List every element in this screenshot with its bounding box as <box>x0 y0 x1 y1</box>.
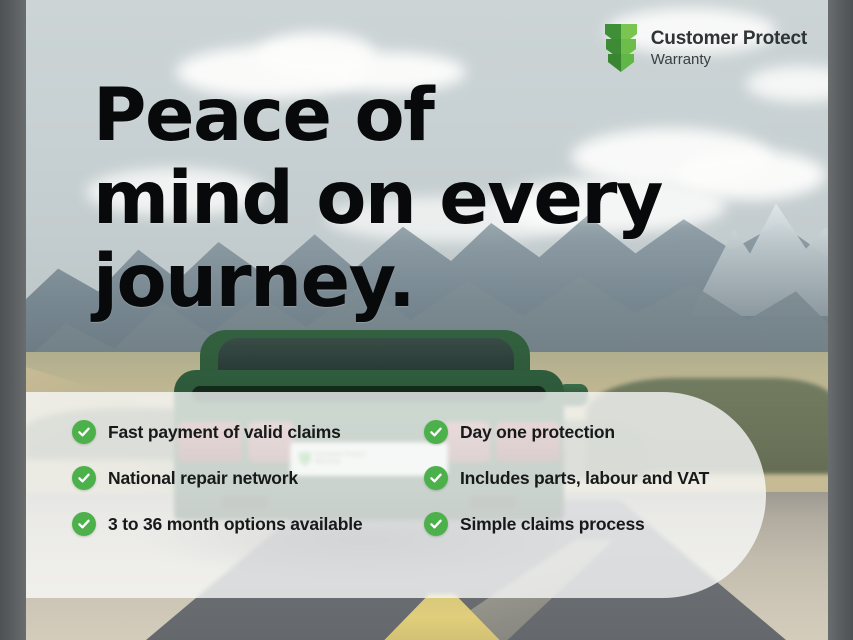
feature-label: Simple claims process <box>460 514 645 535</box>
feature-item: Fast payment of valid claims <box>72 420 424 444</box>
check-circle-icon <box>72 512 96 536</box>
feature-item: National repair network <box>72 466 424 490</box>
advert-banner: Customer Protect Warranty Peace of mind … <box>0 0 853 640</box>
shield-chevron-icon <box>603 22 639 74</box>
feature-label: Day one protection <box>460 422 615 443</box>
feature-label: Fast payment of valid claims <box>108 422 341 443</box>
headline-line-1: Peace of <box>93 74 662 157</box>
letterbox-right <box>828 0 853 640</box>
brand-name: Customer Protect <box>651 29 807 48</box>
feature-label: 3 to 36 month options available <box>108 514 362 535</box>
headline-line-3: journey. <box>93 240 662 323</box>
letterbox-left <box>0 0 26 640</box>
check-circle-icon <box>424 420 448 444</box>
feature-label: National repair network <box>108 468 298 489</box>
feature-item: 3 to 36 month options available <box>72 512 424 536</box>
check-circle-icon <box>72 466 96 490</box>
check-circle-icon <box>72 420 96 444</box>
headline-line-2: mind on every <box>93 157 662 240</box>
check-circle-icon <box>424 466 448 490</box>
feature-item: Day one protection <box>424 420 792 444</box>
check-circle-icon <box>424 512 448 536</box>
brand-lockup: Customer Protect Warranty <box>603 22 807 74</box>
feature-item: Includes parts, labour and VAT <box>424 466 792 490</box>
brand-subtitle: Warranty <box>651 52 807 67</box>
page-title: Peace of mind on every journey. <box>93 74 662 323</box>
feature-label: Includes parts, labour and VAT <box>460 468 709 489</box>
feature-list: Fast payment of valid claims Day one pro… <box>72 420 792 536</box>
feature-item: Simple claims process <box>424 512 792 536</box>
